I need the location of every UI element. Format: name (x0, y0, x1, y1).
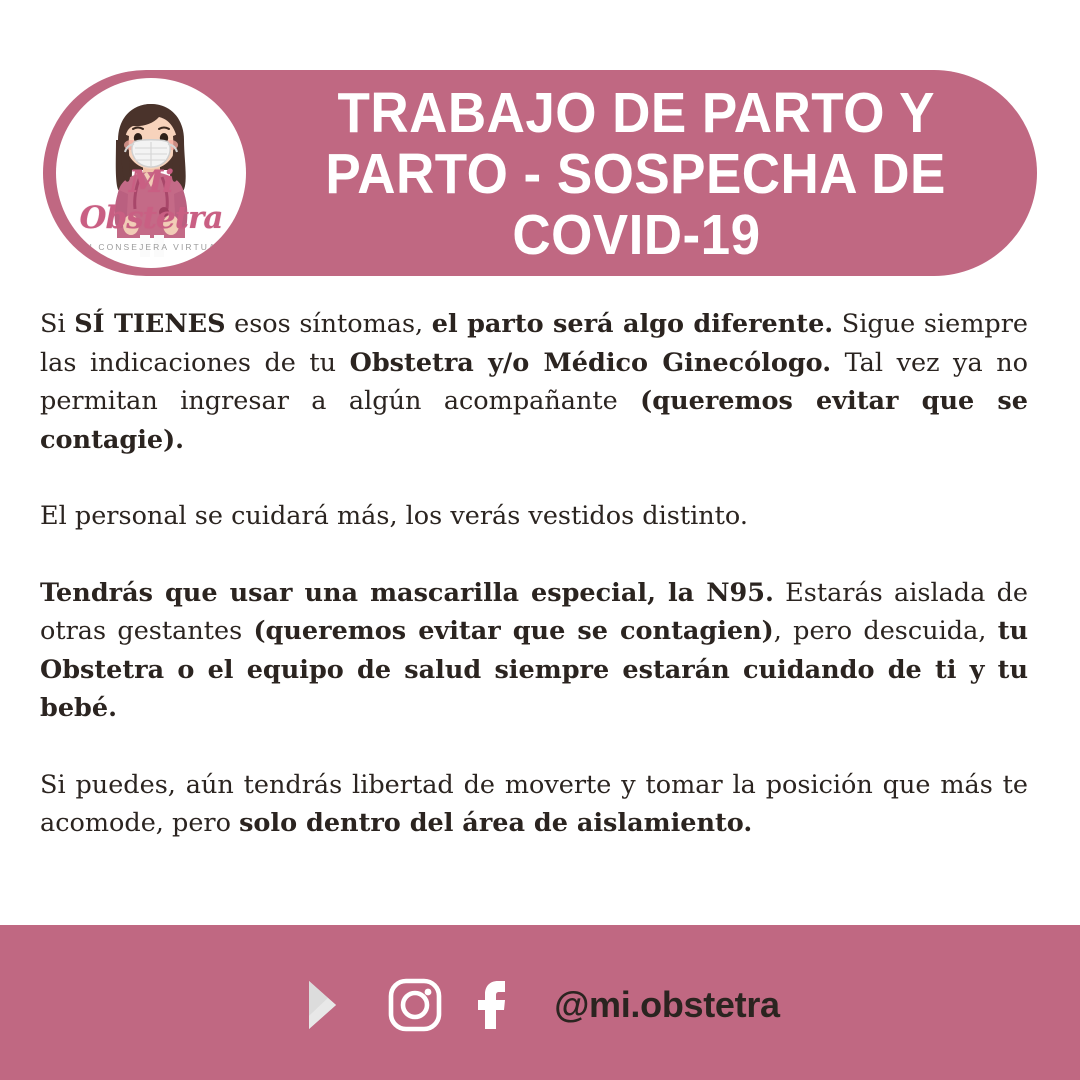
footer-social-bar: @mi.obstetra (0, 925, 1080, 1080)
paragraph-movilidad: Si puedes, aún tendrás libertad de mover… (40, 766, 1028, 843)
title-line-2: PARTO - SOSPECHA DE (326, 144, 946, 205)
brand-logo: Mi Obstetra TU CONSEJERA VIRTUAL (56, 78, 246, 268)
facebook-icon[interactable] (472, 976, 514, 1034)
poster-canvas: Mi Obstetra TU CONSEJERA VIRTUAL TRABAJO… (0, 0, 1080, 1080)
paragraph-mascarilla: Tendrás que usar una mascarilla especial… (40, 574, 1028, 728)
paragraph-sintomas: Si SÍ TIENES esos síntomas, el parto ser… (40, 305, 1028, 459)
google-play-icon[interactable] (300, 976, 358, 1034)
body-content: Si SÍ TIENES esos síntomas, el parto ser… (40, 305, 1028, 843)
instagram-icon[interactable] (386, 976, 444, 1034)
brand-script-text: Mi Obstetra (56, 164, 246, 236)
title-line-3: COVID-19 (512, 205, 760, 266)
title-line-1: TRABAJO DE PARTO Y (337, 83, 934, 144)
social-handle[interactable]: @mi.obstetra (554, 984, 780, 1026)
paragraph-personal: El personal se cuidará más, los verás ve… (40, 497, 1028, 536)
brand-tagline: TU CONSEJERA VIRTUAL (56, 242, 246, 252)
page-title: TRABAJO DE PARTO Y PARTO - SOSPECHA DE C… (255, 74, 1017, 274)
